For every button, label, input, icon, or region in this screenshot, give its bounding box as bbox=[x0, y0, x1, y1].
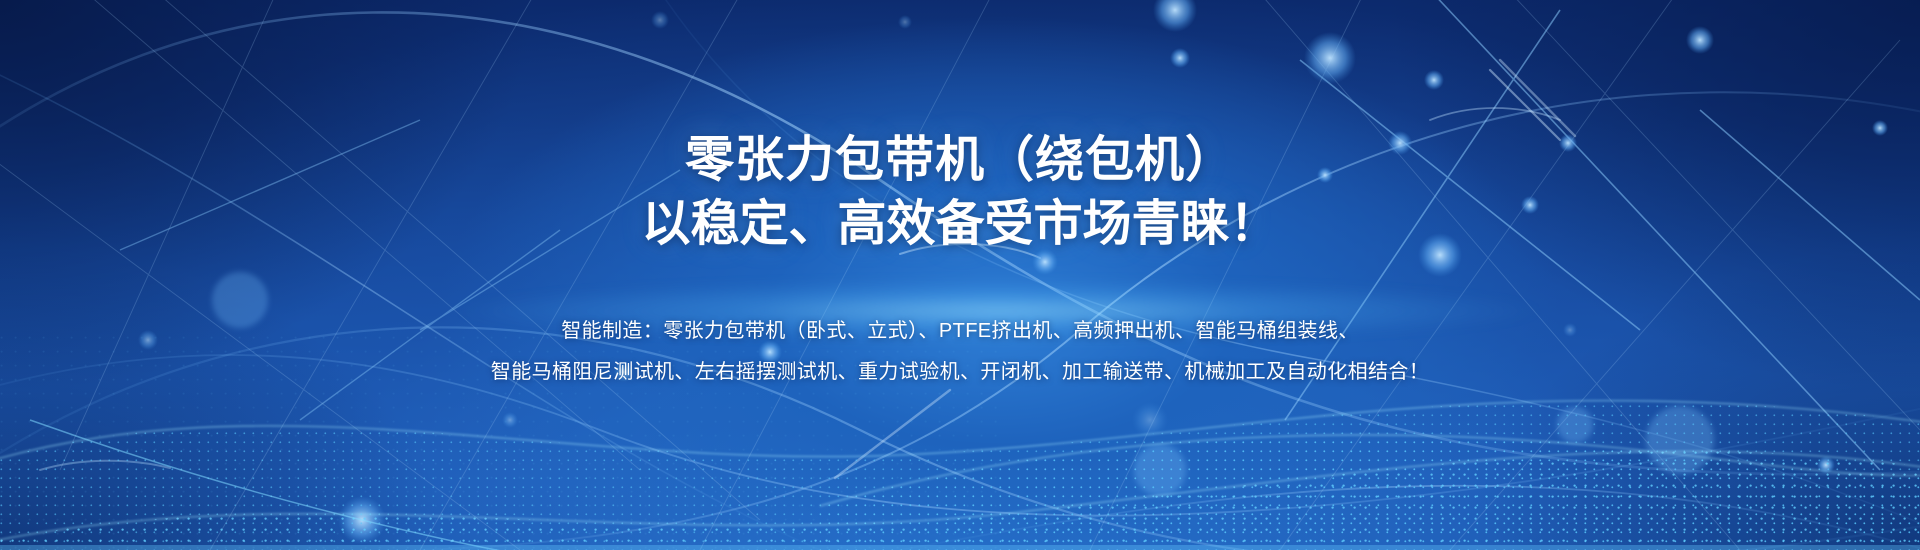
banner-subtitle: 智能制造：零张力包带机（卧式、立式）、PTFE挤出机、高频押出机、智能马桶组装线… bbox=[491, 311, 1429, 393]
banner-title-line-1: 零张力包带机（绕包机） bbox=[641, 129, 1278, 193]
banner-content: 零张力包带机（绕包机） 以稳定、高效备受市场青睐！ 智能制造：零张力包带机（卧式… bbox=[0, 0, 1920, 550]
banner-subtitle-line-1: 智能制造：零张力包带机（卧式、立式）、PTFE挤出机、高频押出机、智能马桶组装线… bbox=[491, 311, 1429, 352]
banner-title-line-2: 以稳定、高效备受市场青睐！ bbox=[641, 193, 1278, 257]
banner-subtitle-line-2: 智能马桶阻尼测试机、左右摇摆测试机、重力试验机、开闭机、加工输送带、机械加工及自… bbox=[491, 352, 1429, 393]
hero-banner: 零张力包带机（绕包机） 以稳定、高效备受市场青睐！ 智能制造：零张力包带机（卧式… bbox=[0, 0, 1920, 550]
banner-title: 零张力包带机（绕包机） 以稳定、高效备受市场青睐！ bbox=[641, 129, 1278, 256]
